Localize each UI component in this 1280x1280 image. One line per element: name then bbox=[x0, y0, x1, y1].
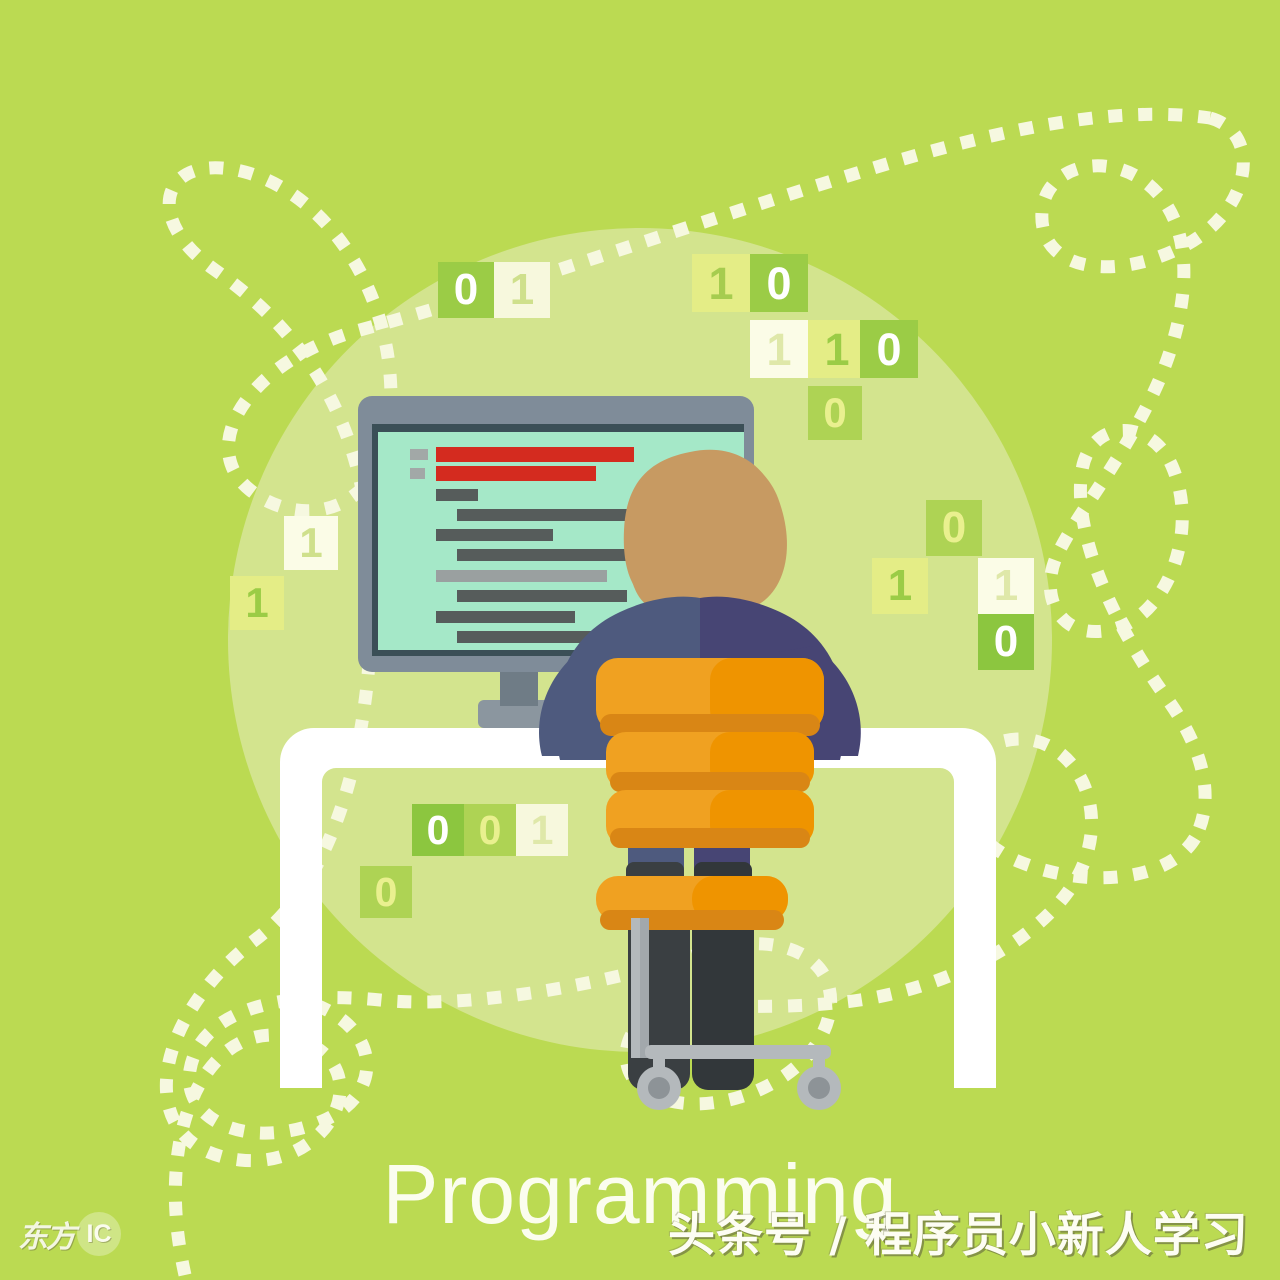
code-line bbox=[410, 449, 428, 460]
binary-digit-tile: 1 bbox=[230, 576, 284, 630]
binary-digit-tile: 0 bbox=[360, 866, 412, 918]
chair-wheel-bar-final bbox=[645, 1045, 831, 1059]
binary-digit-tile: 0 bbox=[860, 320, 918, 378]
binary-digit-tile: 0 bbox=[926, 500, 982, 556]
person-head-back bbox=[627, 453, 787, 606]
binary-digit-tile: 0 bbox=[750, 254, 808, 312]
binary-digit-tile: 1 bbox=[750, 320, 808, 378]
binary-digit-tile: 1 bbox=[494, 262, 550, 318]
code-line bbox=[436, 466, 596, 481]
chair-back-cushion-mid-shadow bbox=[610, 772, 810, 792]
chair-wheel-right-hub bbox=[808, 1077, 830, 1099]
chair-post-lower-2 bbox=[640, 918, 649, 1058]
chair-seat-group bbox=[596, 876, 788, 930]
binary-digit-tile: 0 bbox=[412, 804, 464, 856]
binary-digit-tile: 1 bbox=[516, 804, 568, 856]
binary-digit-tile: 0 bbox=[438, 262, 494, 318]
watermark-logo-cn-text: 东方 bbox=[18, 1212, 74, 1256]
code-line bbox=[436, 447, 634, 462]
watermark-logo: 东方 IC bbox=[18, 1212, 121, 1256]
binary-digit-tile: 1 bbox=[872, 558, 928, 614]
binary-digit-tile: 1 bbox=[978, 558, 1034, 614]
watermark-chinese: 头条号 / 程序员小新人学习 bbox=[668, 1196, 1249, 1265]
code-line bbox=[436, 611, 575, 623]
binary-digit-tile: 1 bbox=[808, 320, 866, 378]
binary-digit-tile: 1 bbox=[284, 516, 338, 570]
binary-digit-tile: 1 bbox=[692, 254, 750, 312]
watermark-logo-ic-badge: IC bbox=[77, 1212, 121, 1256]
binary-digit-tile: 0 bbox=[464, 804, 516, 856]
code-line bbox=[457, 590, 627, 602]
scene-vector bbox=[0, 0, 1280, 1280]
code-line bbox=[436, 570, 607, 582]
code-line bbox=[436, 529, 553, 541]
chair-seat-shadow bbox=[600, 910, 784, 930]
code-line bbox=[436, 489, 478, 501]
chair-wheel-left-hub bbox=[648, 1077, 670, 1099]
code-line bbox=[410, 468, 425, 479]
chair-back-group bbox=[596, 658, 824, 848]
illustration-canvas: 011011001101100010 Programming 头条号 / 程序员… bbox=[0, 0, 1280, 1280]
binary-digit-tile: 0 bbox=[978, 614, 1034, 670]
binary-digit-tile: 0 bbox=[808, 386, 862, 440]
chair-back-cushion-low-shadow bbox=[610, 828, 810, 848]
